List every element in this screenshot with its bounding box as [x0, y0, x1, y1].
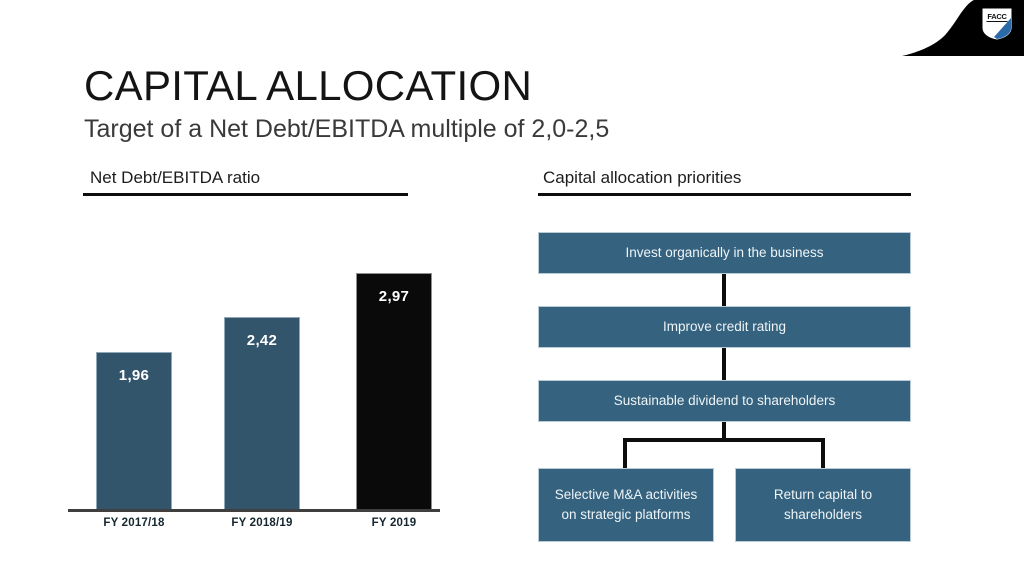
flow-node-manda-label: Selective M&A activities on strategic pl…: [547, 485, 705, 524]
net-debt-ebitda-bar-chart: 1,96 2,42 2,97 FY 2017/18 FY 2018/19 FY …: [0, 0, 512, 576]
flow-node-dividend-label: Sustainable dividend to shareholders: [614, 391, 835, 411]
category-label-fy-2019: FY 2019: [346, 517, 442, 529]
flow-connector-branch-left: [623, 438, 627, 470]
bar-value-fy-2018-19: 2,42: [225, 332, 299, 349]
flow-node-invest-label: Invest organically in the business: [625, 243, 823, 263]
bar-value-fy-2017-18: 1,96: [97, 367, 171, 384]
flow-node-return: Return capital to shareholders: [735, 468, 911, 542]
flow-connector-invest-credit: [722, 274, 726, 306]
bar-fy-2018-19: 2,42: [224, 317, 300, 510]
bar-fy-2019: 2,97: [356, 273, 432, 510]
flow-node-manda: Selective M&A activities on strategic pl…: [538, 468, 714, 542]
bar-value-fy-2019: 2,97: [357, 288, 431, 305]
flow-node-credit: Improve credit rating: [538, 306, 911, 348]
flow-node-credit-label: Improve credit rating: [663, 317, 786, 337]
category-label-fy-2017-18: FY 2017/18: [86, 517, 182, 529]
chart-x-axis-line: [68, 509, 440, 512]
flow-node-invest: Invest organically in the business: [538, 232, 911, 274]
bar-fy-2017-18: 1,96: [96, 352, 172, 510]
capital-allocation-flow-diagram: Invest organically in the business Impro…: [512, 0, 1024, 576]
flow-node-dividend: Sustainable dividend to shareholders: [538, 380, 911, 422]
flow-connector-credit-dividend: [722, 348, 726, 380]
category-label-fy-2018-19: FY 2018/19: [214, 517, 310, 529]
flow-connector-branch-bar: [623, 438, 825, 442]
flow-node-return-label: Return capital to shareholders: [744, 485, 902, 524]
flow-connector-branch-right: [821, 438, 825, 470]
